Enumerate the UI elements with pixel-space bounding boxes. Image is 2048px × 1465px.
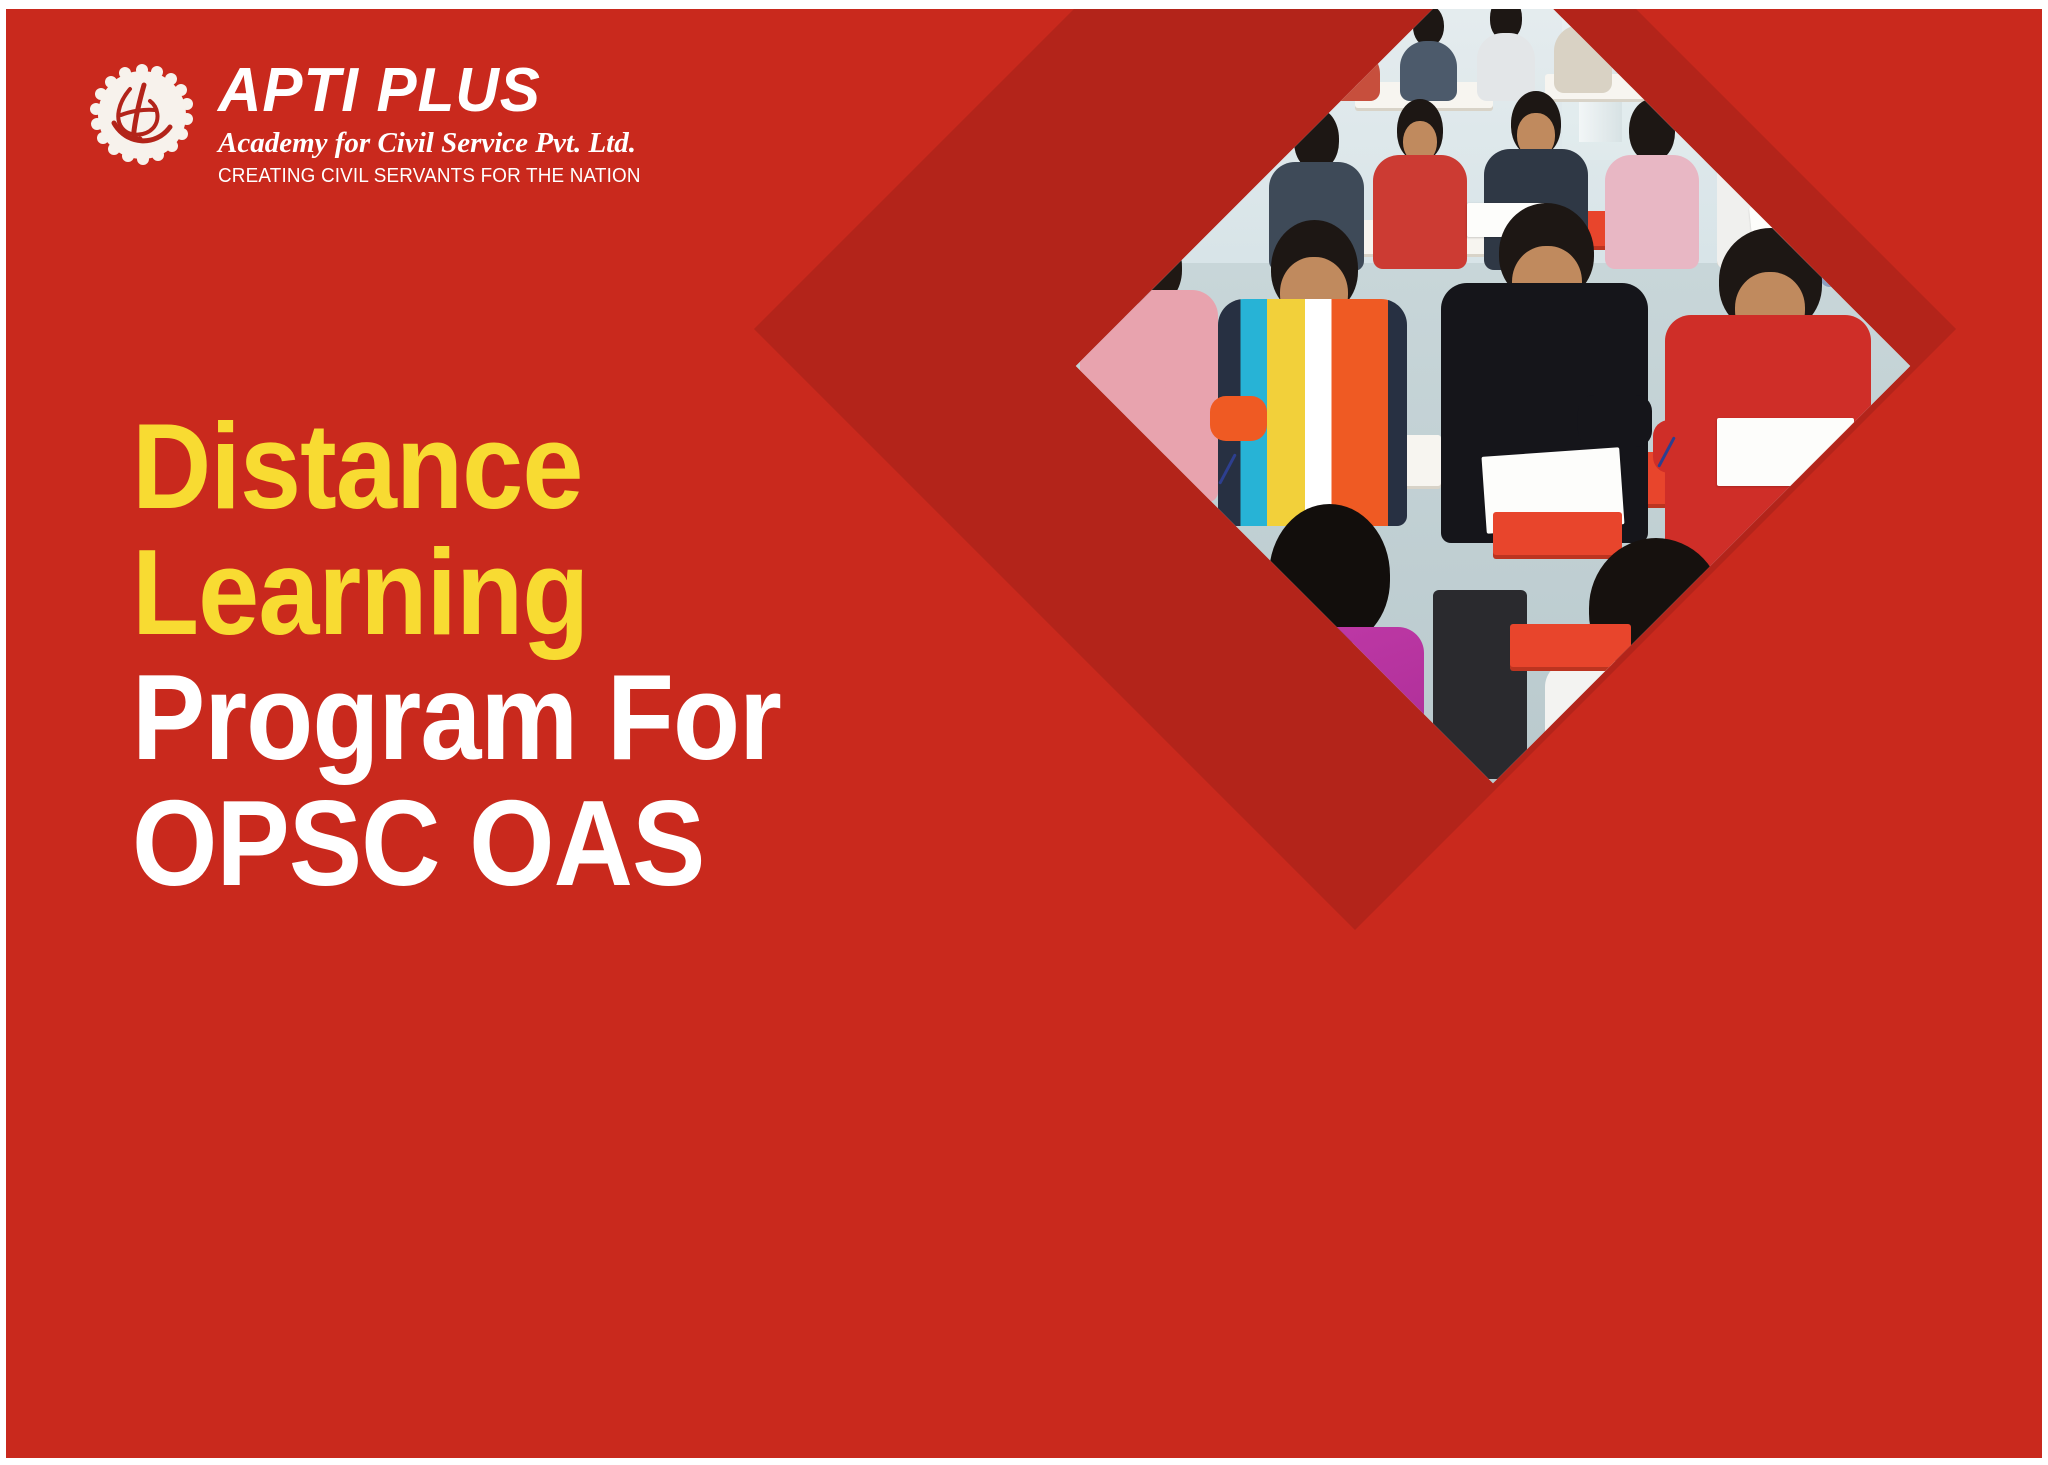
photo-person [1218,220,1407,504]
brand-subtitle: Academy for Civil Service Pvt. Ltd. [218,126,677,160]
banner-canvas: APTI PLUS Academy for Civil Service Pvt.… [6,9,2042,1458]
photo-person [1553,9,1613,91]
photo-desk [1717,91,1855,117]
photo-person [1631,9,1691,91]
hero-photo-frame [1076,9,1910,783]
photo-person [1785,9,1845,99]
headline-line-3: Program For [132,655,781,781]
photo-person [1476,9,1536,99]
headline-line-4: OPSC OAS [132,781,781,907]
photo-person [1235,504,1424,784]
banner-stage: APTI PLUS Academy for Civil Service Pvt.… [0,0,2048,1465]
photo-person [1398,9,1458,99]
apti-plus-seal-monogram-icon [88,61,196,169]
classroom-exam-photo [1076,9,1910,783]
photo-person [1820,108,1910,280]
headline-line-1: Distance [132,404,781,530]
brand-logo-text: APTI PLUS Academy for Civil Service Pvt.… [218,57,677,189]
photo-paper [1717,418,1855,487]
photo-person [1708,9,1768,91]
headline: Distance Learning Program For OPSC OAS [132,404,781,907]
brand-logo[interactable]: APTI PLUS Academy for Civil Service Pvt.… [88,57,677,189]
photo-desk [1510,624,1630,667]
photo-chair [1433,590,1528,779]
brand-name: APTI PLUS [218,61,664,122]
photo-person [1321,13,1381,99]
headline-line-2: Learning [132,530,781,656]
photo-notice-board [1631,9,1721,52]
photo-person [1080,228,1218,486]
photo-person [1665,228,1871,538]
brand-tagline: CREATING CIVIL SERVANTS FOR THE NATION [218,164,641,189]
hero-photo-diamond [1076,9,1910,783]
